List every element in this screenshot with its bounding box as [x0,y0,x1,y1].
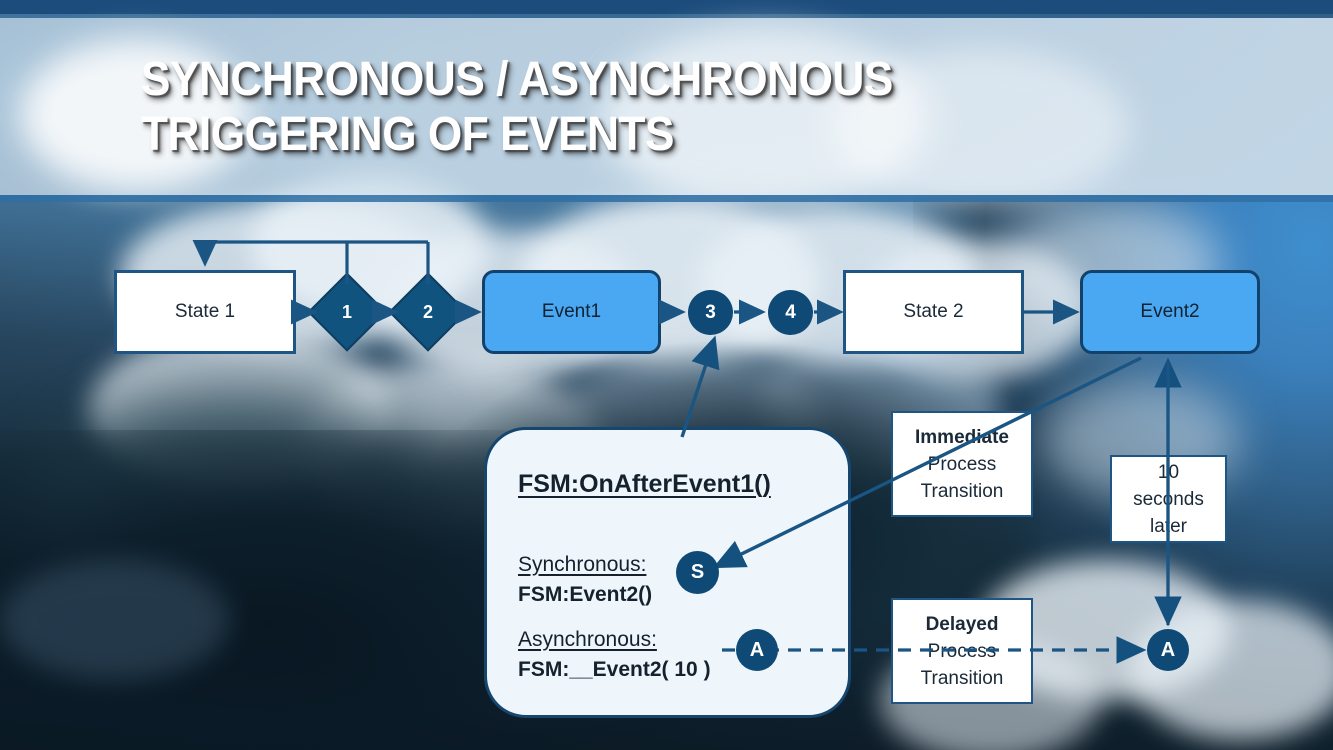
note-immediate-line2: Process [928,451,997,478]
step-circle-3[interactable]: 3 [688,290,733,335]
cloud-shape [0,560,230,680]
event-box-event1[interactable]: Event1 [482,270,661,354]
note-delayed-title: Delayed [926,611,999,638]
banner-bottom-rule [0,195,1333,202]
state-box-state-1[interactable]: State 1 [114,270,296,354]
callout-title: FSM:OnAfterEvent1() [518,470,771,499]
slide-canvas: SYNCHRONOUS / ASYNCHRONOUS TRIGGERING OF… [0,0,1333,750]
step-circle-4[interactable]: 4 [768,290,813,335]
async-target-label: A [1161,639,1175,662]
note-timer-delay[interactable]: 10 seconds later [1110,455,1227,543]
event2-label: Event2 [1140,301,1199,323]
decision-diamond-2[interactable]: 2 [400,284,456,340]
page-title: SYNCHRONOUS / ASYNCHRONOUS TRIGGERING OF… [141,52,1107,162]
timer-line1: 10 [1158,459,1179,486]
top-accent-strip [0,0,1333,14]
fsm-callout-box[interactable]: FSM:OnAfterEvent1() Synchronous: FSM:Eve… [484,427,851,718]
diamond-2-label: 2 [400,284,456,340]
callout-sync-label: Synchronous: [518,553,646,577]
timer-line2: seconds [1133,486,1204,513]
async-marker-label: A [750,639,764,662]
event1-label: Event1 [542,301,601,323]
async-marker-circle-a[interactable]: A [736,629,778,671]
diamond-1-label: 1 [319,284,375,340]
note-immediate-title: Immediate [915,424,1009,451]
callout-async-label: Asynchronous: [518,628,657,652]
note-delayed-line2: Process [928,638,997,665]
step-3-label: 3 [705,302,716,324]
state-box-state-2[interactable]: State 2 [843,270,1024,354]
step-4-label: 4 [785,302,796,324]
note-delayed-line3: Transition [921,665,1004,692]
async-target-circle-a[interactable]: A [1147,629,1189,671]
timer-line3: later [1150,513,1187,540]
callout-sync-code: FSM:Event2() [518,583,652,607]
state-2-label: State 2 [903,301,963,323]
state-1-label: State 1 [175,301,235,323]
note-immediate-process-transition[interactable]: Immediate Process Transition [891,411,1033,517]
note-immediate-line3: Transition [921,478,1004,505]
sync-marker-circle-s[interactable]: S [676,551,719,594]
decision-diamond-1[interactable]: 1 [319,284,375,340]
callout-async-code: FSM:__Event2( 10 ) [518,658,711,682]
note-delayed-process-transition[interactable]: Delayed Process Transition [891,598,1033,704]
sync-marker-label: S [691,561,704,584]
event-box-event2[interactable]: Event2 [1080,270,1260,354]
